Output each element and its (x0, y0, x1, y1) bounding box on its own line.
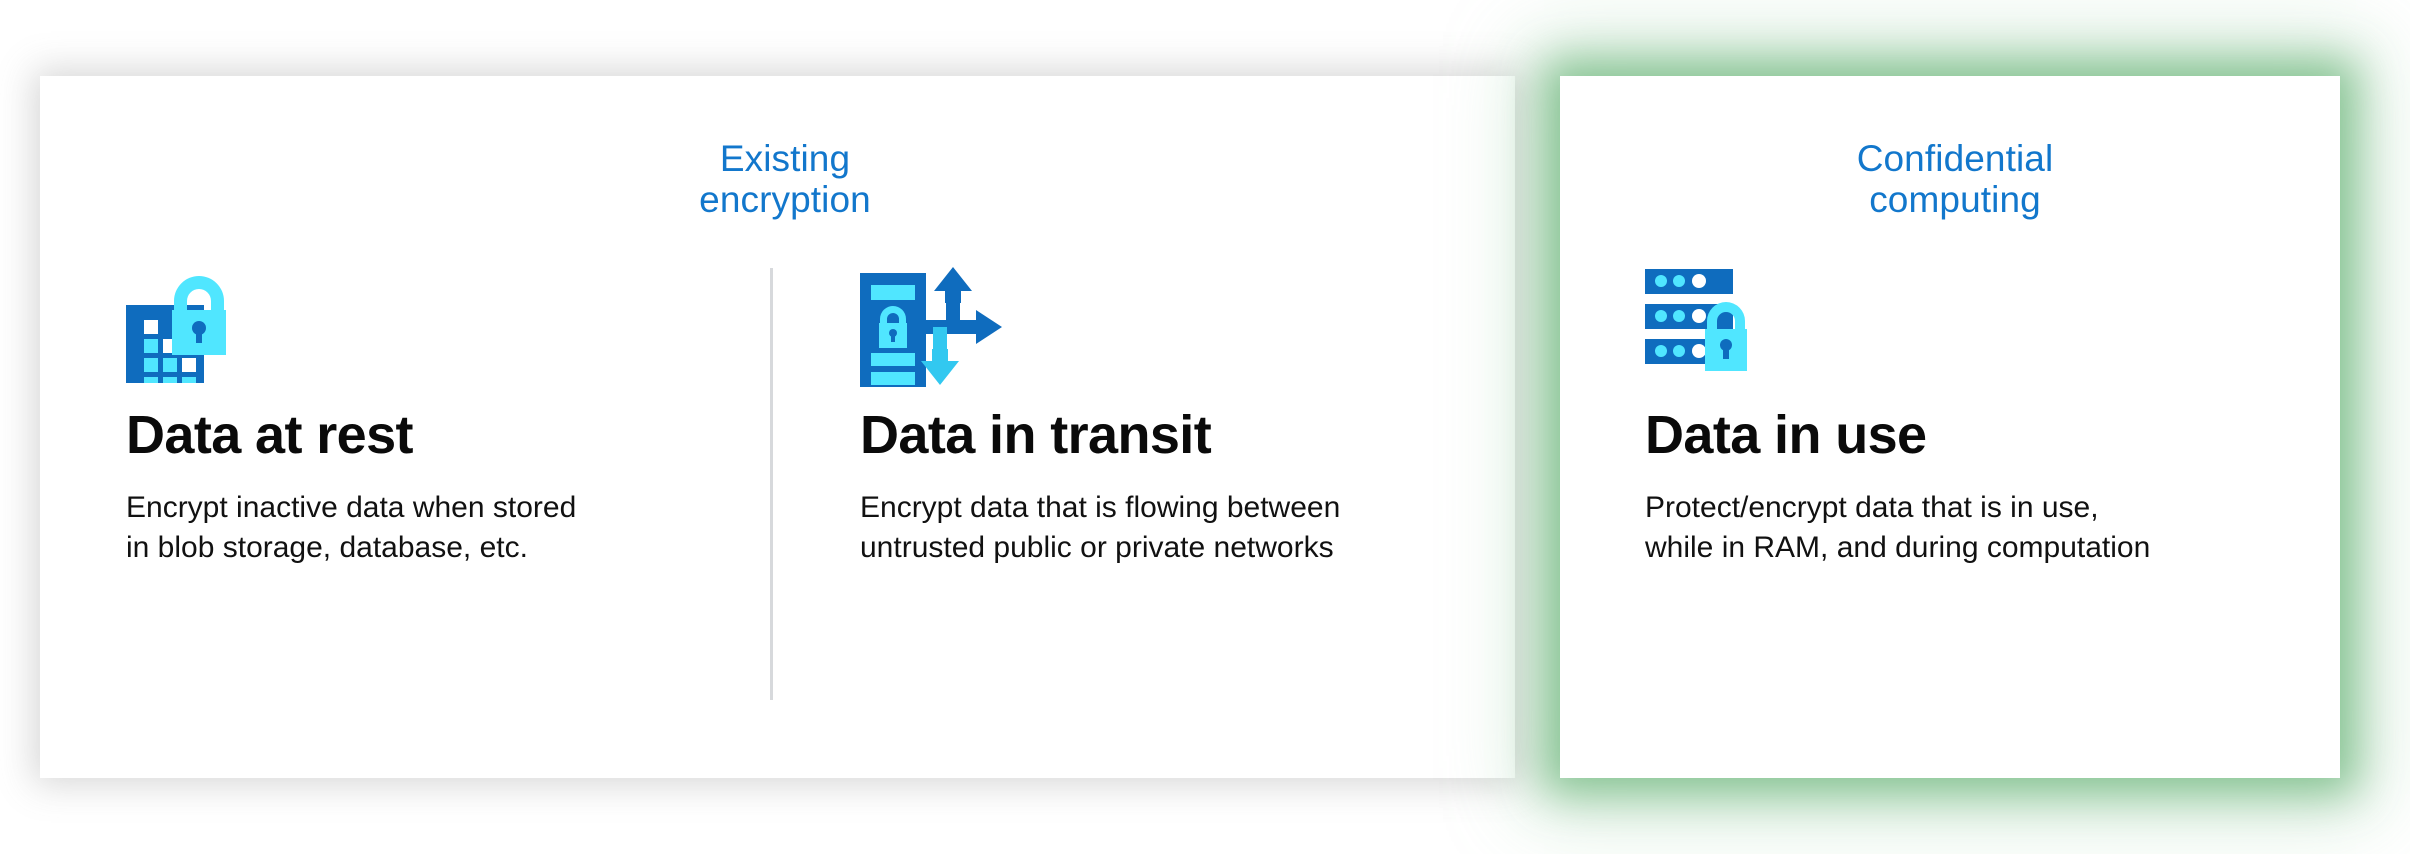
column-divider (770, 268, 773, 700)
panel-confidential-computing-header: Confidential computing (1790, 138, 2120, 221)
storage-lock-icon (126, 265, 726, 390)
column-title-data-in-use: Data in use (1645, 390, 2305, 462)
column-description-data-in-use: Protect/encrypt data that is in use, whi… (1645, 462, 2305, 567)
column-data-at-rest: Data at rest Encrypt inactive data when … (126, 265, 726, 567)
column-title-data-at-rest: Data at rest (126, 390, 726, 462)
server-rack-lock-icon (1645, 265, 2305, 390)
column-data-in-transit: Data in transit Encrypt data that is flo… (860, 265, 1480, 567)
panel-existing-encryption-header: Existing encryption (620, 138, 950, 221)
column-description-data-at-rest: Encrypt inactive data when stored in blo… (126, 462, 726, 567)
diagram-canvas: Existing encryption (0, 0, 2410, 854)
column-data-in-use: Data in use Protect/encrypt data that is… (1645, 265, 2305, 567)
column-description-data-in-transit: Encrypt data that is flowing between unt… (860, 462, 1480, 567)
column-title-data-in-transit: Data in transit (860, 390, 1480, 462)
server-arrows-lock-icon (860, 265, 1480, 390)
